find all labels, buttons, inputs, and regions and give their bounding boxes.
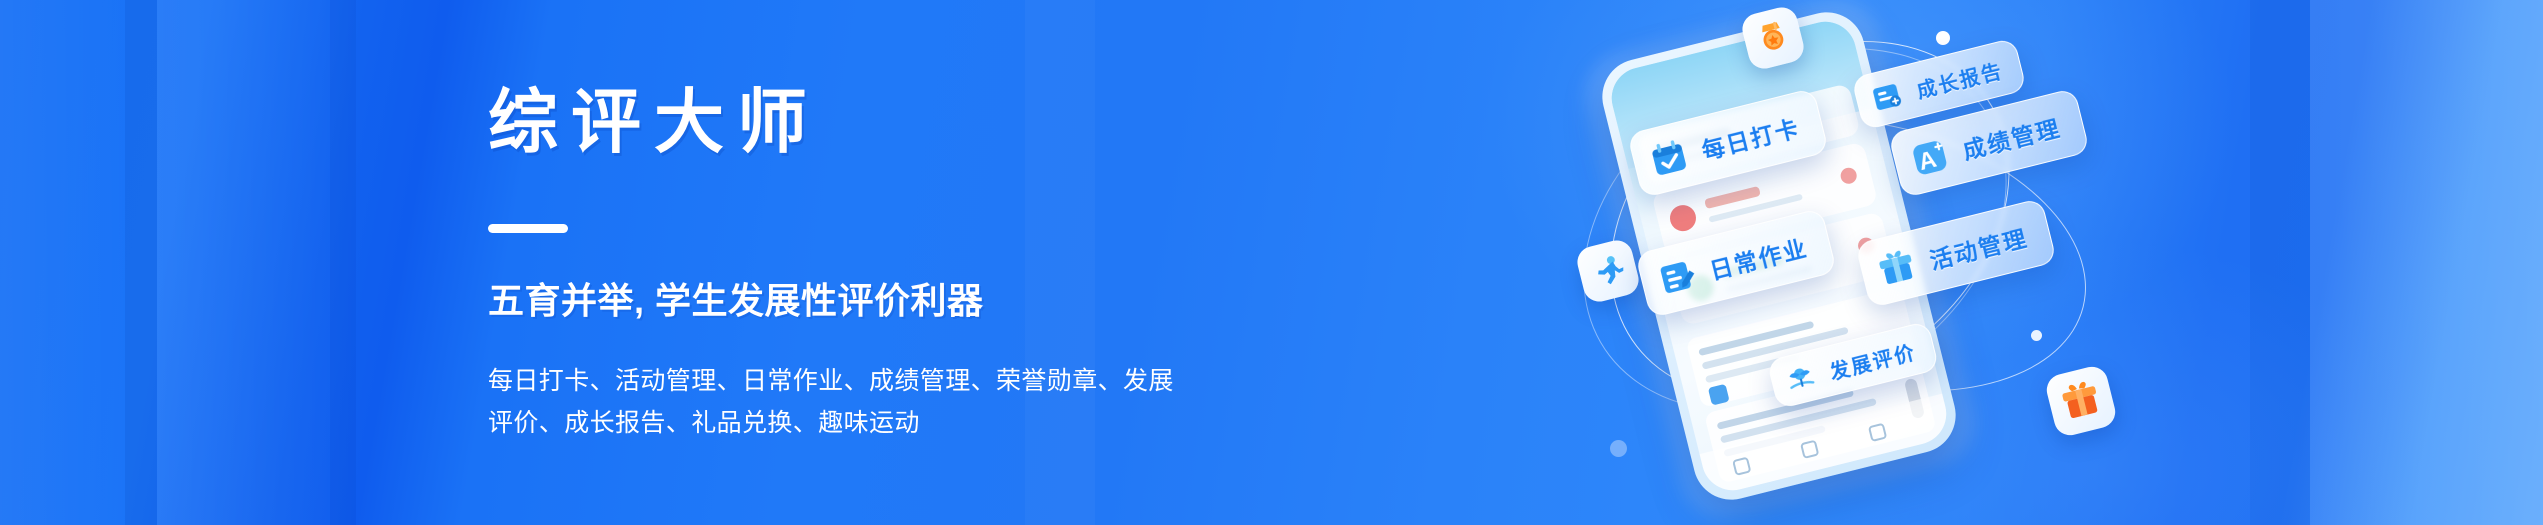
report-clipboard-icon xyxy=(1866,76,1907,117)
banner-description: 每日打卡、活动管理、日常作业、成绩管理、荣誉勋章、发展评价、成长报告、礼品兑换、… xyxy=(488,360,1178,444)
app-icon xyxy=(1708,384,1730,406)
app-badge xyxy=(1839,166,1858,185)
calendar-check-icon xyxy=(1645,134,1693,182)
feature-card-label: 活动管理 xyxy=(1926,219,2031,276)
feature-card-label: 成绩管理 xyxy=(1959,109,2064,166)
banner-copy: 综评大师 五育并举, 学生发展性评价利器 每日打卡、活动管理、日常作业、成绩管理… xyxy=(488,0,1448,525)
sparkle-dot xyxy=(2031,330,2042,341)
page-title: 综评大师 xyxy=(488,80,820,164)
feature-card-label: 发展评价 xyxy=(1826,335,1918,384)
title-divider xyxy=(488,224,568,233)
sparkle-dot xyxy=(1936,31,1950,45)
tabbar-icon xyxy=(1800,440,1819,459)
gift-exchange-icon xyxy=(2043,363,2118,438)
bg-band xyxy=(157,0,357,525)
gift-box-icon xyxy=(1873,244,1921,292)
homework-pencil-icon xyxy=(1653,254,1701,302)
grade-a-plus-icon: A xyxy=(1906,134,1954,182)
sprout-flower-icon xyxy=(1781,359,1820,398)
banner-subtitle: 五育并举, 学生发展性评价利器 xyxy=(488,278,984,324)
feature-card-label: 日常作业 xyxy=(1706,229,1811,286)
feature-card-label: 每日打卡 xyxy=(1698,109,1803,166)
hero-illustration: 每日打卡 成长报告 A 成绩管 xyxy=(1540,0,2540,525)
feature-card-label: 成长报告 xyxy=(1913,54,2005,103)
promo-banner: 综评大师 五育并举, 学生发展性评价利器 每日打卡、活动管理、日常作业、成绩管理… xyxy=(0,0,2543,525)
tabbar-icon xyxy=(1868,423,1887,442)
tabbar-icon xyxy=(1732,457,1751,476)
bg-band xyxy=(330,0,356,525)
sparkle-dot xyxy=(1610,440,1627,457)
bg-band xyxy=(0,0,128,525)
bg-band xyxy=(125,0,157,525)
app-icon xyxy=(1667,202,1699,234)
